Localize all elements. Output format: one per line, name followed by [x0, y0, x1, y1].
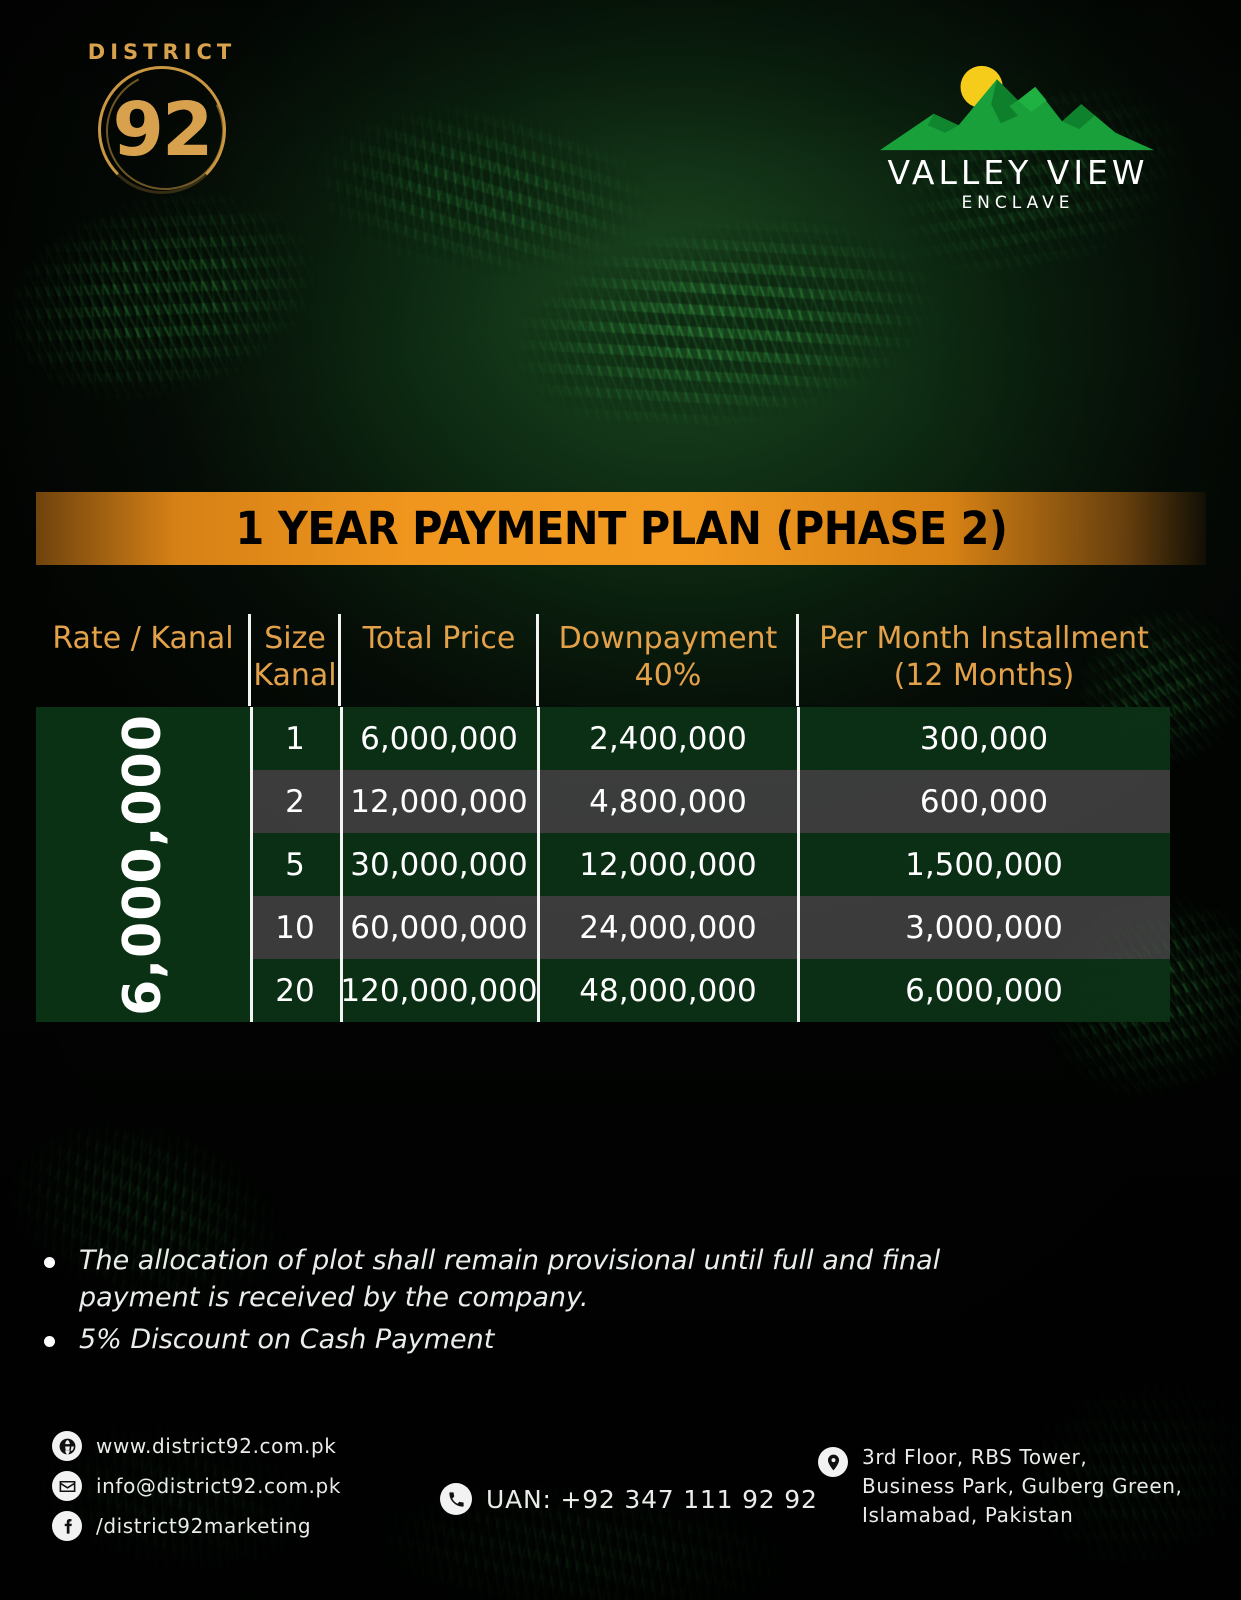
- cell-total-price: 120,000,000: [340, 959, 538, 1022]
- cell-size: 2: [250, 770, 340, 833]
- rate-per-kanal-cell: 6,000,000: [36, 707, 250, 1022]
- valley-view-name: VALLEY VIEW: [873, 156, 1163, 189]
- cell-downpayment: 12,000,000: [538, 833, 798, 896]
- list-item: 5% Discount on Cash Payment: [44, 1322, 1044, 1359]
- address-line-1: 3rd Floor, RBS Tower,: [862, 1445, 1087, 1469]
- location-pin-icon: [818, 1447, 848, 1477]
- cell-total-price: 6,000,000: [340, 707, 538, 770]
- column-separator: [797, 707, 800, 1022]
- district92-logo: DISTRICT 92: [72, 40, 252, 210]
- facebook-text: /district92marketing: [96, 1514, 311, 1538]
- facebook-icon: [52, 1511, 82, 1541]
- footer-email-line[interactable]: info@district92.com.pk: [52, 1471, 341, 1501]
- cell-installment: 600,000: [798, 770, 1170, 833]
- footer-contact-bar: www.district92.com.pk info@district92.co…: [0, 1425, 1241, 1585]
- table-body: 6,000,000 1 6,000,000 2,400,000 300,000 …: [36, 707, 1170, 1022]
- rate-value: 6,000,000: [113, 714, 173, 1016]
- cell-installment: 3,000,000: [798, 896, 1170, 959]
- column-separator: [250, 707, 253, 1022]
- header-rate-per-kanal: Rate / Kanal: [36, 612, 250, 658]
- cell-total-price: 30,000,000: [340, 833, 538, 896]
- table-header-row: Rate / Kanal Size Kanal Total Price Down…: [36, 612, 1170, 707]
- cell-installment: 1,500,000: [798, 833, 1170, 896]
- address-line-2: Business Park, Gulberg Green,: [862, 1474, 1182, 1498]
- email-text: info@district92.com.pk: [96, 1474, 341, 1498]
- terms-notes-list: The allocation of plot shall remain prov…: [44, 1243, 1044, 1365]
- cell-downpayment: 2,400,000: [538, 707, 798, 770]
- footer-address-group: 3rd Floor, RBS Tower, Business Park, Gul…: [818, 1443, 1182, 1530]
- district92-number: 92: [98, 66, 226, 194]
- cell-size: 1: [250, 707, 340, 770]
- note-text: The allocation of plot shall remain prov…: [79, 1243, 1044, 1316]
- address-line-3: Islamabad, Pakistan: [862, 1503, 1073, 1527]
- district92-wordmark: DISTRICT: [72, 40, 252, 64]
- payment-plan-poster: DISTRICT 92 VALLEY VIEW ENCLAVE 1 YEAR P…: [0, 0, 1241, 1600]
- cell-size: 20: [250, 959, 340, 1022]
- address-text: 3rd Floor, RBS Tower, Business Park, Gul…: [862, 1443, 1182, 1530]
- uan-text: UAN: +92 347 111 92 92: [486, 1485, 818, 1514]
- header-downpayment: Downpayment 40%: [538, 612, 798, 694]
- cell-size: 10: [250, 896, 340, 959]
- header-size-kanal: Size Kanal: [250, 612, 340, 694]
- website-text: www.district92.com.pk: [96, 1434, 336, 1458]
- title-banner: 1 YEAR PAYMENT PLAN (PHASE 2): [36, 492, 1206, 565]
- bullet-dot-icon: [44, 1336, 55, 1347]
- cell-downpayment: 24,000,000: [538, 896, 798, 959]
- cell-downpayment: 4,800,000: [538, 770, 798, 833]
- district92-badge: 92: [98, 66, 226, 194]
- column-separator: [340, 707, 343, 1022]
- note-text: 5% Discount on Cash Payment: [79, 1322, 494, 1359]
- header-per-month-installment: Per Month Installment (12 Months): [798, 612, 1170, 694]
- page-title: 1 YEAR PAYMENT PLAN (PHASE 2): [235, 502, 1007, 555]
- header-total-price: Total Price: [340, 612, 538, 658]
- valley-view-logo: VALLEY VIEW ENCLAVE: [873, 62, 1163, 213]
- globe-icon: [52, 1431, 82, 1461]
- cell-total-price: 60,000,000: [340, 896, 538, 959]
- cell-total-price: 12,000,000: [340, 770, 538, 833]
- list-item: The allocation of plot shall remain prov…: [44, 1243, 1044, 1316]
- footer-website-line[interactable]: www.district92.com.pk: [52, 1431, 341, 1461]
- cell-size: 5: [250, 833, 340, 896]
- envelope-icon: [52, 1471, 82, 1501]
- footer-facebook-line[interactable]: /district92marketing: [52, 1511, 341, 1541]
- phone-icon: [440, 1483, 472, 1515]
- payment-plan-table: Rate / Kanal Size Kanal Total Price Down…: [36, 612, 1170, 1022]
- cell-downpayment: 48,000,000: [538, 959, 798, 1022]
- bullet-dot-icon: [44, 1257, 55, 1268]
- cell-installment: 300,000: [798, 707, 1170, 770]
- mountain-sun-icon: [873, 62, 1163, 154]
- column-separator: [537, 707, 540, 1022]
- footer-uan-line[interactable]: UAN: +92 347 111 92 92: [440, 1483, 818, 1515]
- valley-view-subtitle: ENCLAVE: [873, 193, 1163, 213]
- cell-installment: 6,000,000: [798, 959, 1170, 1022]
- footer-left-group: www.district92.com.pk info@district92.co…: [52, 1431, 341, 1551]
